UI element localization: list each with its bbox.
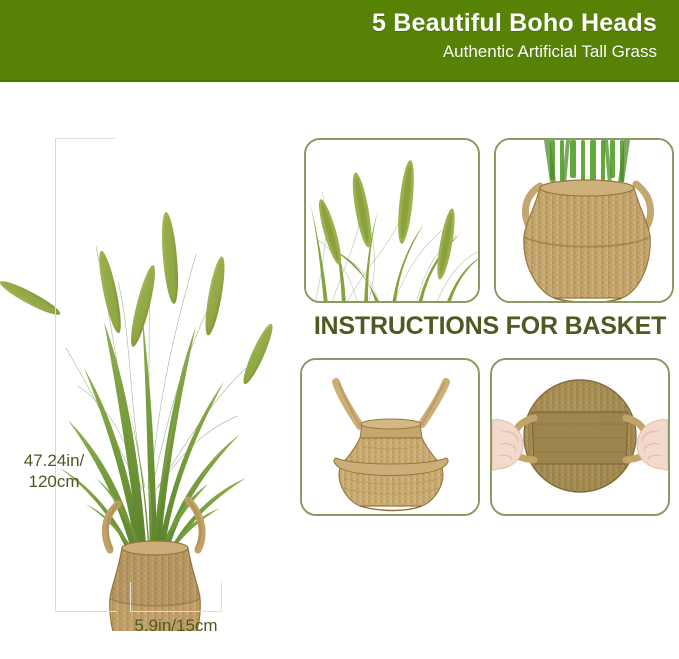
width-measure-right-cap <box>221 582 222 612</box>
height-measure-top-cap <box>55 138 115 139</box>
width-measure-left-cap <box>130 582 131 612</box>
width-dimension-label: 5.9in/15cm <box>86 616 266 636</box>
height-measure-bottom-cap <box>55 611 117 612</box>
step-card-2: Step 2 Lift to unfold. <box>490 358 670 636</box>
step-2-image <box>490 358 670 516</box>
gallery-card-grass-heads <box>304 138 480 303</box>
step-1-badge: Step 1 <box>342 526 438 553</box>
height-dimension-label: 47.24in/ 120cm <box>8 450 100 492</box>
header-banner: 5 Beautiful Boho Heads Authentic Artific… <box>0 0 679 82</box>
header-text-block: 5 Beautiful Boho Heads Authentic Artific… <box>372 8 657 64</box>
page-subtitle: Authentic Artificial Tall Grass <box>372 40 657 64</box>
page-title: 5 Beautiful Boho Heads <box>372 8 657 38</box>
width-measure-line <box>130 611 222 612</box>
step-card-1: Step 1 Grip the bottom handle of the bas… <box>300 358 480 636</box>
product-infographic: 5 Beautiful Boho Heads Authentic Artific… <box>0 0 679 659</box>
height-dimension-line1: 47.24in/ <box>8 450 100 471</box>
step-2-caption: Step 2 Lift to unfold. <box>490 508 670 636</box>
height-dimension-line2: 120cm <box>8 471 100 492</box>
instructions-title: INSTRUCTIONS FOR BASKET <box>304 312 676 341</box>
step-2-badge: Step 2 <box>532 526 628 553</box>
main-product-image <box>0 86 296 631</box>
step-1-text: Grip the bottom handle of the basket. <box>300 565 480 603</box>
step-1-caption: Step 1 Grip the bottom handle of the bas… <box>300 508 480 636</box>
gallery-card-basket-with-grass <box>494 138 674 303</box>
height-measure-line <box>55 138 56 612</box>
step-2-text: Lift to unfold. <box>490 565 670 584</box>
step-1-image <box>300 358 480 516</box>
